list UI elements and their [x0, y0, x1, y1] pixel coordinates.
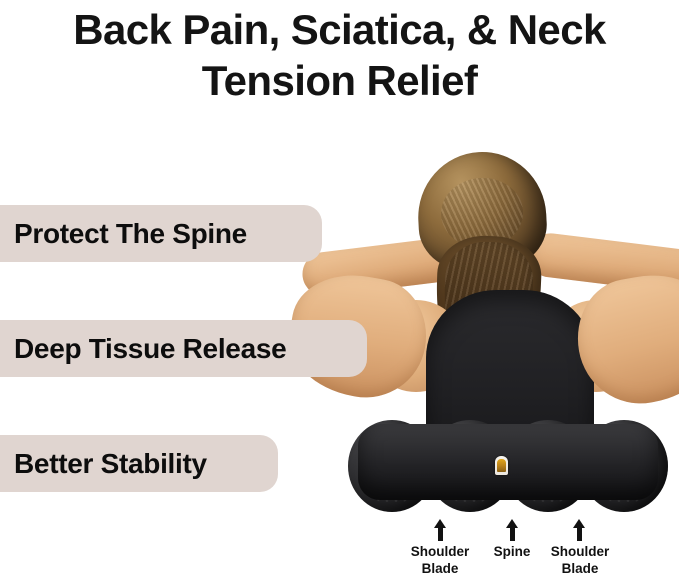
- benefit-label: Better Stability: [14, 448, 207, 480]
- callout-line-1: Shoulder: [394, 543, 486, 560]
- page-title-line-2: Tension Relief: [0, 55, 679, 106]
- arrow-shaft: [577, 525, 582, 541]
- callout-line-2: Blade: [394, 560, 486, 577]
- benefit-label: Deep Tissue Release: [14, 333, 286, 365]
- callout-line-1: Shoulder: [534, 543, 626, 560]
- promo-image: Back Pain, Sciatica, & Neck Tension Reli…: [0, 0, 679, 582]
- callout-line-2: Blade: [534, 560, 626, 577]
- benefit-pill-protect-the-spine: Protect The Spine: [0, 205, 322, 262]
- brand-logo-icon: [495, 456, 508, 475]
- roller-body: [358, 424, 658, 500]
- callout-shoulder-blade-left: Shoulder Blade: [394, 543, 486, 577]
- page-title: Back Pain, Sciatica, & Neck Tension Reli…: [0, 4, 679, 106]
- arrow-up-icon-spine: [508, 519, 516, 541]
- arrow-up-icon-shoulder-blade-right: [575, 519, 583, 541]
- product-photo: [330, 140, 679, 530]
- benefit-pill-better-stability: Better Stability: [0, 435, 278, 492]
- arrow-shaft: [510, 525, 515, 541]
- callout-shoulder-blade-right: Shoulder Blade: [534, 543, 626, 577]
- foam-roller: [348, 420, 668, 512]
- page-title-line-1: Back Pain, Sciatica, & Neck: [0, 4, 679, 55]
- arrow-shaft: [438, 525, 443, 541]
- arrow-up-icon-shoulder-blade-left: [436, 519, 444, 541]
- benefit-pill-deep-tissue-release: Deep Tissue Release: [0, 320, 367, 377]
- benefit-label: Protect The Spine: [14, 218, 247, 250]
